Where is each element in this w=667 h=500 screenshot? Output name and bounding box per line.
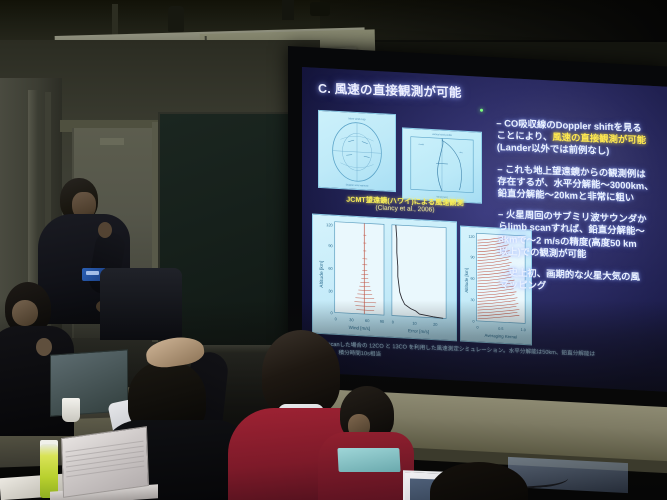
vertical-profile-svg: vertical wind profile Wind [m/s] model o… [403, 128, 481, 202]
bullet-4: →史上初、画期的な火星大気の風 マッピング [499, 266, 659, 296]
svg-text:Mars wind map: Mars wind map [348, 117, 366, 121]
svg-text:Doppler wind retrieval: Doppler wind retrieval [346, 183, 369, 187]
svg-text:60: 60 [328, 266, 333, 271]
svg-text:vertical wind profile: vertical wind profile [432, 133, 452, 137]
laser-pointer-dot-icon [480, 109, 483, 112]
green-tea-bottle [40, 444, 58, 498]
svg-text:obs: obs [460, 152, 463, 154]
lecture-room-photo: C. 風速の直接観測が可能 Mars wind map Doppler wind… [0, 0, 667, 500]
svg-text:60: 60 [471, 277, 475, 281]
ceiling-fixture-icon [168, 6, 184, 32]
svg-text:120: 120 [326, 222, 333, 227]
mars-disk-figure: Mars wind map Doppler wind retrieval [318, 110, 396, 192]
standing-person-torso [100, 268, 182, 340]
teal-device[interactable] [337, 448, 400, 472]
door-sign [100, 138, 124, 145]
svg-text:Altitude [km]: Altitude [km] [319, 260, 325, 288]
ceiling-vent-icon [310, 2, 330, 16]
paper-cup [62, 398, 80, 422]
slide-bullet-list: – CO吸収線のDoppler shiftを見る ことにより、風速の直接観測が可… [496, 117, 659, 305]
svg-text:90: 90 [471, 255, 475, 259]
ceiling-bracket-icon [282, 0, 294, 20]
bullet-3: – 火星周回のサブミリ波サウンダか らlimb scanすれば、鉛直分解能～ 3… [498, 208, 659, 262]
svg-text:Altitude [km]: Altitude [km] [464, 268, 469, 293]
svg-text:120: 120 [468, 235, 474, 239]
bullet-2: – これも地上望遠鏡からの観測例は 存在するが、水平分解能～3000km、 鉛直… [497, 163, 658, 205]
presenter-hand [98, 222, 112, 238]
audience-left-face [12, 300, 38, 326]
svg-text:model: model [419, 144, 425, 146]
presenter-badge-text [86, 271, 99, 275]
svg-text:30: 30 [328, 288, 333, 293]
svg-text:90: 90 [328, 243, 333, 248]
bullet-1: – CO吸収線のDoppler shiftを見る ことにより、風速の直接観測が可… [496, 117, 657, 159]
audience-left-hand [36, 338, 52, 356]
mars-disk-svg: Mars wind map Doppler wind retrieval [319, 111, 395, 191]
vertical-profile-figure: vertical wind profile Wind [m/s] model o… [402, 127, 482, 203]
